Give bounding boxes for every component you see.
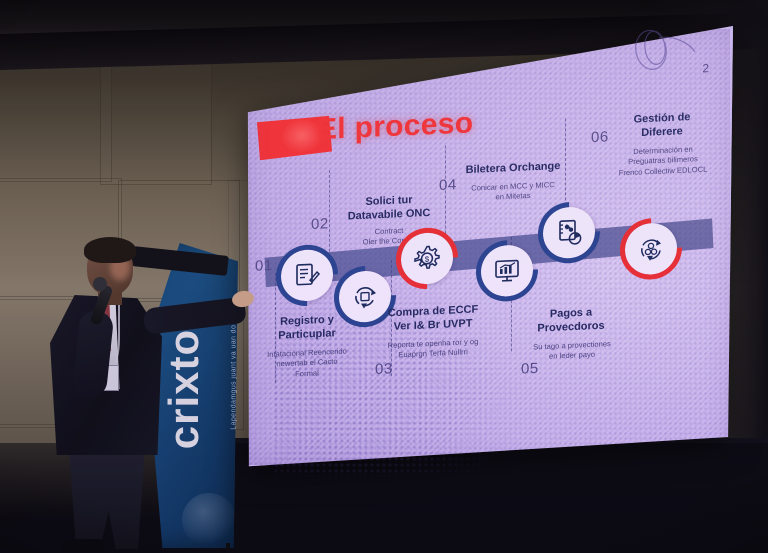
presenter-legs [64, 449, 150, 549]
wall-block [100, 58, 212, 185]
projection-screen: El proceso 2 [243, 26, 733, 468]
wall-block [0, 60, 112, 182]
presenter-hair [84, 237, 136, 263]
microphone-head [93, 277, 107, 291]
presenter-shoe [62, 539, 106, 551]
presenter-pointing-arm [142, 297, 246, 335]
presentation-photo-scene: El proceso 2 [0, 0, 768, 553]
presenter [24, 237, 254, 553]
